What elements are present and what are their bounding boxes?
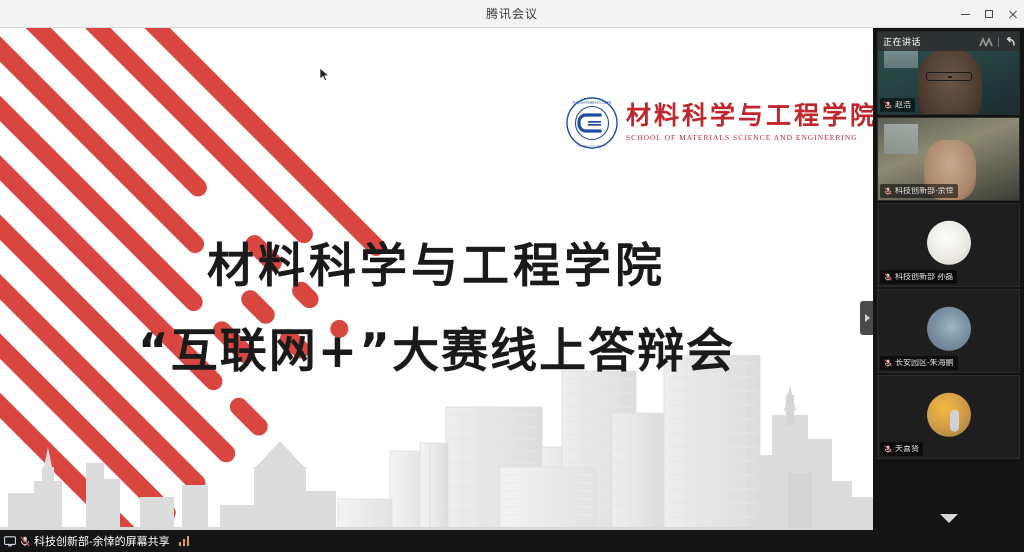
title-bar: 腾讯会议 xyxy=(0,0,1024,28)
svg-text:MATERIALS SCI AND ENG: MATERIALS SCI AND ENG xyxy=(578,145,607,148)
logo-english-name: SCHOOL OF MATERIALS SCIENCE AND ENGINEER… xyxy=(626,133,873,142)
slide-title: 材料科学与工程学院 “互联网+”大赛线上答辩会 xyxy=(0,243,873,375)
slide-title-line2: “互联网+”大赛线上答辩会 xyxy=(0,328,873,375)
window-controls xyxy=(954,0,1024,28)
microphone-icon xyxy=(884,273,892,281)
participant-name-bar: 长安园区-朱海鹏 xyxy=(880,356,958,370)
microphone-icon xyxy=(884,187,892,195)
microphone-icon xyxy=(884,445,892,453)
chevron-down-icon xyxy=(940,514,958,523)
participant-name-bar: 赵浩 xyxy=(880,98,915,112)
participant-tile[interactable]: 正在讲话 赵浩 xyxy=(877,31,1020,115)
close-button[interactable] xyxy=(1000,0,1024,28)
participant-name-bar: 科技创新部 孙磊 xyxy=(880,270,957,284)
scroll-down-button[interactable] xyxy=(873,508,1024,528)
share-status-text: 科技创新部-余悻的屏幕共享 xyxy=(34,533,170,549)
speaking-banner-icons xyxy=(979,37,1016,47)
speaking-banner: 正在讲话 xyxy=(878,32,1020,51)
maximize-button[interactable] xyxy=(977,0,1000,28)
mouse-cursor xyxy=(320,68,330,82)
signal-bars-icon xyxy=(179,536,190,546)
microphone-icon xyxy=(884,101,892,109)
participant-name: 长安园区-朱海鹏 xyxy=(895,359,954,367)
status-bar: 科技创新部-余悻的屏幕共享 xyxy=(0,530,1024,552)
participant-name: 科技创新部·余悻 xyxy=(895,187,954,195)
tencent-meeting-window: 腾讯会议 xyxy=(0,0,1024,552)
participant-name: 天喜贤 xyxy=(895,445,919,453)
chevron-right-icon xyxy=(865,314,870,322)
sound-wave-icon xyxy=(979,37,993,47)
logo-chinese-name: 材料科学与工程学院 xyxy=(626,104,873,130)
participant-tile[interactable]: 科技创新部·余悻 xyxy=(877,117,1020,201)
window-title: 腾讯会议 xyxy=(486,5,538,22)
participant-tile[interactable]: 天喜贤 xyxy=(877,375,1020,459)
presentation-slide: 西安工业大学材料科学与工程学院 MATERIALS SCI AND ENG 材料… xyxy=(0,28,873,530)
background-window xyxy=(884,124,918,154)
microphone-icon xyxy=(20,536,30,547)
speaking-label: 正在讲话 xyxy=(883,35,921,48)
participant-video-strip[interactable]: 正在讲话 赵浩 xyxy=(873,28,1024,530)
divider xyxy=(998,37,999,47)
participant-name: 科技创新部 孙磊 xyxy=(895,273,953,281)
city-skyline-illustration xyxy=(0,355,873,530)
avatar xyxy=(927,307,971,351)
glasses-shape xyxy=(926,72,972,81)
panel-collapse-handle[interactable] xyxy=(860,301,873,335)
microphone-icon xyxy=(884,359,892,367)
participant-name: 赵浩 xyxy=(895,101,911,109)
slide-title-line1: 材料科学与工程学院 xyxy=(0,243,873,290)
school-seal-icon: 西安工业大学材料科学与工程学院 MATERIALS SCI AND ENG xyxy=(566,97,618,149)
maximize-icon xyxy=(985,10,993,18)
participant-name-bar: 天喜贤 xyxy=(880,442,923,456)
school-logo: 西安工业大学材料科学与工程学院 MATERIALS SCI AND ENG 材料… xyxy=(566,94,824,152)
screen-share-icon xyxy=(4,536,16,547)
avatar xyxy=(927,221,971,265)
participant-name-bar: 科技创新部·余悻 xyxy=(880,184,958,198)
avatar xyxy=(927,393,971,437)
undo-arrow-icon[interactable] xyxy=(1004,37,1016,47)
minimize-button[interactable] xyxy=(954,0,977,28)
shared-screen-stage[interactable]: 西安工业大学材料科学与工程学院 MATERIALS SCI AND ENG 材料… xyxy=(0,28,873,530)
participant-tile[interactable]: 科技创新部 孙磊 xyxy=(877,203,1020,287)
participant-face xyxy=(918,50,982,115)
minimize-icon xyxy=(961,14,970,15)
svg-text:西安工业大学材料科学与工程学院: 西安工业大学材料科学与工程学院 xyxy=(573,101,612,105)
close-icon xyxy=(1008,10,1017,19)
participant-tile[interactable]: 长安园区-朱海鹏 xyxy=(877,289,1020,373)
